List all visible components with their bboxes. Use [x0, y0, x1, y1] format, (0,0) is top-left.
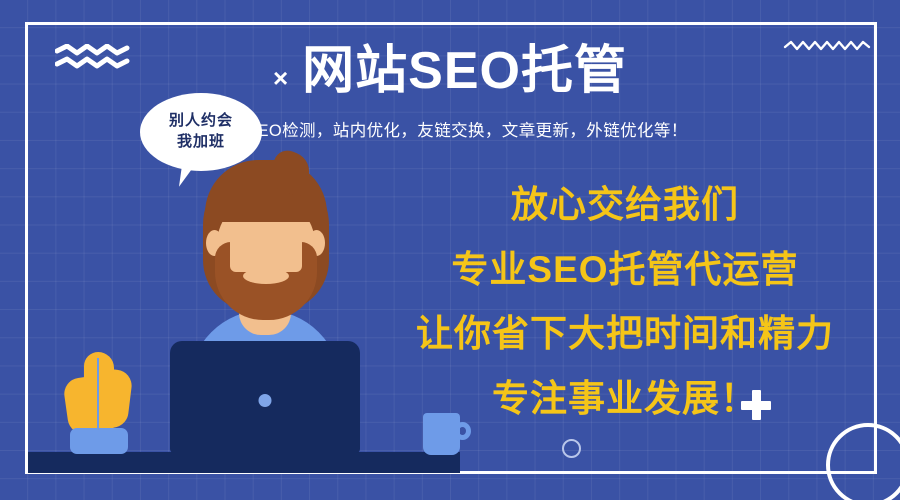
laptop: [170, 341, 360, 453]
person-mouth: [243, 268, 289, 284]
person-illustration: [175, 160, 355, 360]
slogan-line: 专业SEO托管代运营: [451, 250, 798, 291]
potted-plant: [62, 352, 136, 452]
speech-bubble-line-2: 我加班: [177, 133, 225, 152]
plant-pot: [70, 428, 128, 454]
plant-stem: [97, 358, 99, 432]
title-bullet-icon: ×: [273, 51, 288, 91]
page-title: × 网站SEO托管: [0, 42, 900, 100]
circle-outline-icon: [826, 423, 900, 500]
speech-bubble-line-1: 别人约会: [169, 112, 233, 131]
seo-hosting-banner: × 网站SEO托管 含：SEO检测，站内优化，友链交换，文章更新，外链优化等！ …: [0, 0, 900, 500]
slogan-line: 让你省下大把时间和精力: [416, 314, 834, 355]
mug-body: [423, 413, 460, 455]
title-text: 网站SEO托管: [302, 42, 627, 100]
small-ring-icon: [562, 439, 581, 458]
slogan-line: 放心交给我们: [511, 185, 739, 226]
speech-bubble: 别人约会 我加班: [140, 93, 262, 171]
desk: [28, 452, 460, 473]
coffee-mug: [423, 413, 473, 455]
page-subtitle: 含：SEO检测，站内优化，友链交换，文章更新，外链优化等！: [0, 117, 900, 141]
laptop-logo-icon: [259, 394, 272, 407]
slogan-list: 放心交给我们 专业SEO托管代运营 让你省下大把时间和精力 专注事业发展！: [390, 185, 860, 420]
plant-leaf-center: [84, 352, 114, 434]
slogan-line: 专注事业发展！: [492, 379, 758, 420]
